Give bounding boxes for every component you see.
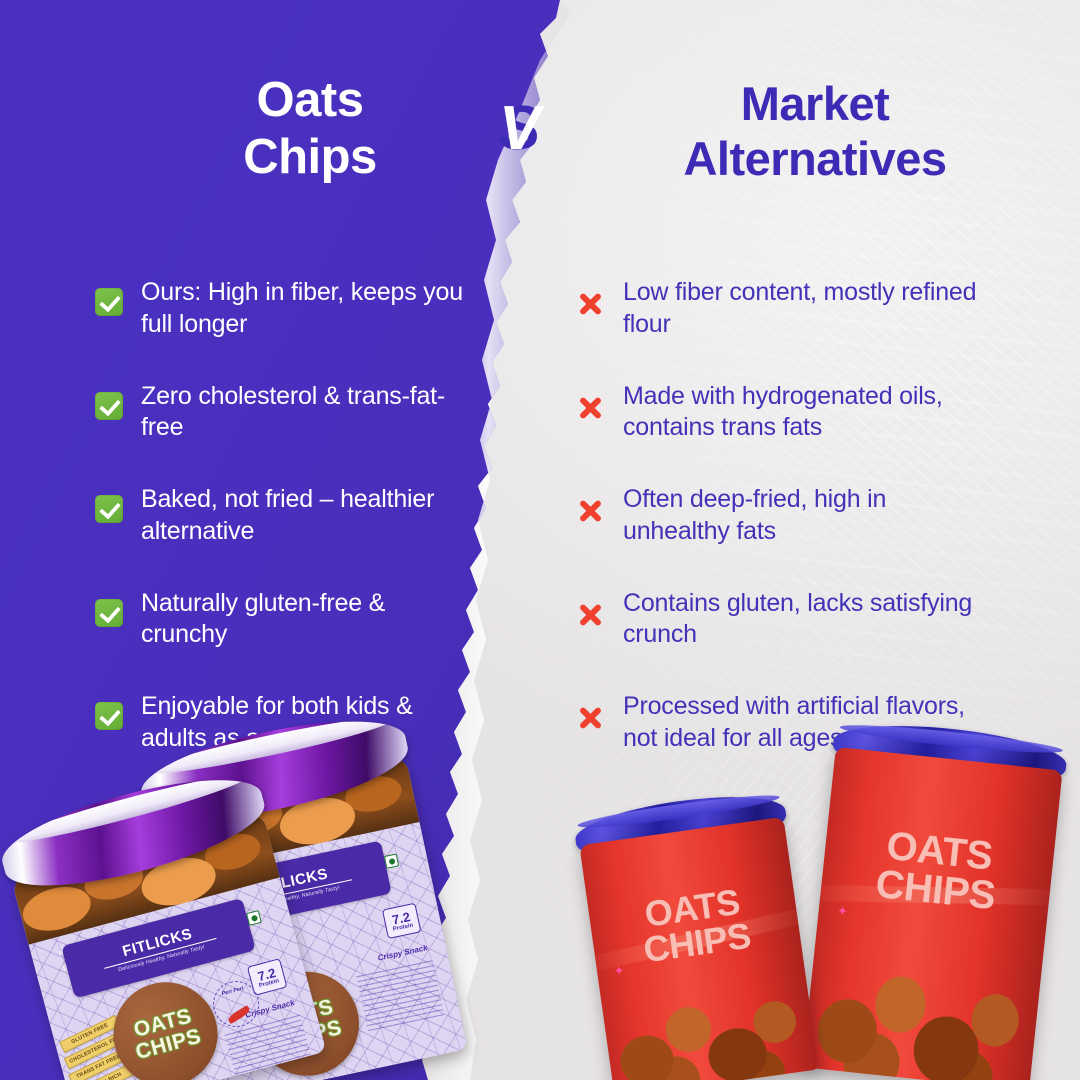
can-star-icon: ✦ — [836, 902, 849, 919]
vs-badge: V S — [499, 96, 605, 162]
competitor-can-left: ✦ OATS CHIPS — [573, 787, 821, 1080]
protein-badge: 7.2 Protein — [382, 903, 421, 939]
can-chips-photo — [802, 923, 1044, 1080]
can-body: ✦ OATS CHIPS — [802, 747, 1062, 1080]
cross-icon — [575, 691, 605, 733]
cons-item-text: Contains gluten, lacks satisfying crunch — [623, 588, 995, 652]
list-item: Zero cholesterol & trans-fat-free — [95, 381, 475, 445]
left-column-title: Oats Chips — [140, 72, 480, 186]
pros-list: Ours: High in fiber, keeps you full long… — [95, 277, 475, 755]
competitor-can-right: ✦ OATS CHIPS — [800, 717, 1068, 1080]
pros-item-text: Ours: High in fiber, keeps you full long… — [141, 277, 475, 341]
can-chips-photo — [599, 956, 819, 1080]
list-item: Made with hydrogenated oils, contains tr… — [575, 381, 995, 445]
list-item: Baked, not fried – healthier alternative — [95, 484, 475, 548]
check-icon — [95, 381, 123, 420]
list-item: Naturally gluten-free & crunchy — [95, 588, 475, 652]
left-title-line-1: Oats — [140, 72, 480, 129]
ingredient-fineprint — [356, 958, 444, 1031]
right-title-line-1: Market — [600, 76, 1030, 131]
check-icon — [95, 277, 123, 316]
cons-item-text: Low fiber content, mostly refined flour — [623, 277, 995, 341]
right-title-line-2: Alternatives — [600, 131, 1030, 186]
right-column-title: Market Alternatives — [600, 76, 1030, 187]
list-item: Often deep-fried, high in unhealthy fats — [575, 484, 995, 548]
cons-list: Low fiber content, mostly refined flour … — [575, 277, 995, 755]
left-title-line-2: Chips — [140, 129, 480, 186]
cross-icon — [575, 381, 605, 423]
list-item: Low fiber content, mostly refined flour — [575, 277, 995, 341]
pros-item-text: Zero cholesterol & trans-fat-free — [141, 381, 475, 445]
can-title: OATS CHIPS — [820, 820, 1055, 922]
check-icon — [95, 691, 123, 730]
veg-mark-icon — [384, 853, 399, 868]
cross-icon — [575, 277, 605, 319]
cross-icon — [575, 484, 605, 526]
infographic-canvas: Oats Chips V S Market Alternatives Ours:… — [0, 0, 1080, 1080]
check-icon — [95, 588, 123, 627]
list-item: Ours: High in fiber, keeps you full long… — [95, 277, 475, 341]
cross-icon — [575, 588, 605, 630]
list-item: Contains gluten, lacks satisfying crunch — [575, 588, 995, 652]
veg-mark-icon — [246, 910, 262, 926]
cons-item-text: Made with hydrogenated oils, contains tr… — [623, 381, 995, 445]
pros-item-text: Naturally gluten-free & crunchy — [141, 588, 475, 652]
flavor-label: Peri Peri — [221, 986, 244, 998]
cons-item-text: Often deep-fried, high in unhealthy fats — [623, 484, 995, 548]
vs-letter-v: V — [499, 96, 537, 162]
can-body: ✦ OATS CHIPS — [579, 817, 818, 1080]
pros-item-text: Baked, not fried – healthier alternative — [141, 484, 475, 548]
check-icon — [95, 484, 123, 523]
